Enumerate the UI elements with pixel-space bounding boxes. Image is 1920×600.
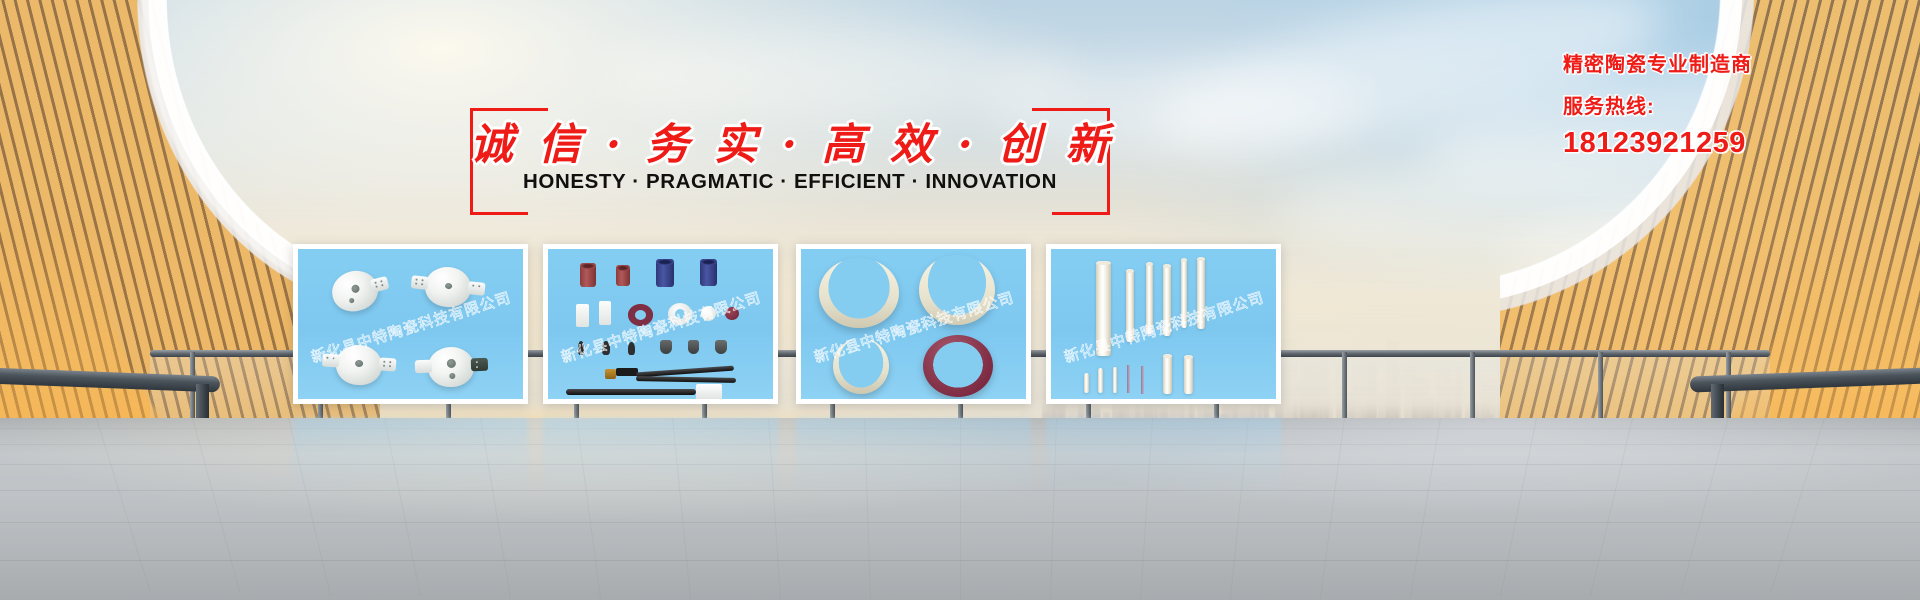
panel-4-image: 新化县中特陶瓷科技有限公司 xyxy=(1051,249,1276,399)
wire-connector-1 xyxy=(605,369,616,379)
ring-large-1 xyxy=(819,258,899,328)
panel-1-image: 新化县中特陶瓷科技有限公司 xyxy=(298,249,523,399)
plate-1 xyxy=(576,304,589,327)
panel-1-reflection xyxy=(293,418,528,496)
ring-maroon-small xyxy=(628,304,653,326)
company-slogan: 精密陶瓷专业制造商 xyxy=(1563,52,1752,78)
clip-1 xyxy=(660,340,672,354)
part-dark-1 xyxy=(578,341,584,355)
product-panel-rods[interactable]: 新化县中特陶瓷科技有限公司 xyxy=(1046,244,1281,404)
rod-mini-4 xyxy=(1163,354,1172,394)
wire-terminal xyxy=(616,368,638,376)
plate-2 xyxy=(599,301,611,325)
rod-mini-purple-2 xyxy=(1141,366,1144,394)
rod-mini-2 xyxy=(1098,368,1103,393)
rod-mini-purple-1 xyxy=(1127,365,1130,393)
socket-2 xyxy=(423,265,473,310)
rod-2 xyxy=(1126,269,1134,342)
ring-maroon-large xyxy=(923,335,993,397)
rod-thick xyxy=(1096,261,1111,356)
product-panel-rings[interactable]: 新化县中特陶瓷科技有限公司 xyxy=(796,244,1031,404)
rod-mini-3 xyxy=(1113,367,1117,393)
tube-blue-1 xyxy=(656,259,674,287)
rod-6 xyxy=(1197,257,1205,329)
part-dark-3 xyxy=(628,342,635,355)
hotline-number[interactable]: 18123921259 xyxy=(1563,126,1752,160)
part-dark-2 xyxy=(602,341,610,355)
socket-3 xyxy=(335,343,384,386)
wire-3 xyxy=(566,389,696,395)
panel-3-reflection xyxy=(796,418,1031,496)
tube-red-1 xyxy=(580,263,596,287)
socket-4 xyxy=(427,346,474,388)
cap-maroon xyxy=(725,307,739,320)
panel-2-image: 新化县中特陶瓷科技有限公司 xyxy=(548,249,773,399)
ring-large-2 xyxy=(919,255,995,325)
product-panel-components[interactable]: 新化县中特陶瓷科技有限公司 xyxy=(543,244,778,404)
tube-red-2 xyxy=(616,265,630,286)
product-panel-lamp-holders[interactable]: 新化县中特陶瓷科技有限公司 xyxy=(293,244,528,404)
rod-mini-1 xyxy=(1084,373,1089,393)
wire-plug xyxy=(696,384,722,399)
panel-2-watermark: 新化县中特陶瓷科技有限公司 xyxy=(558,287,763,368)
rod-mini-5 xyxy=(1184,355,1193,394)
wire-2 xyxy=(636,376,736,383)
tube-blue-2 xyxy=(700,259,717,286)
rod-3 xyxy=(1146,262,1153,334)
headline-english: HONESTY · PRAGMATIC · EFFICIENT · INNOVA… xyxy=(470,170,1110,194)
ring-white-small xyxy=(668,303,692,325)
cap-white xyxy=(701,306,716,321)
headline-chinese: 诚 信 · 务 实 · 高 效 · 创 新 xyxy=(470,110,1110,172)
headline-block: 诚 信 · 务 实 · 高 效 · 创 新 HONESTY · PRAGMATI… xyxy=(470,108,1110,220)
contact-block: 精密陶瓷专业制造商 服务热线: 18123921259 xyxy=(1563,52,1752,160)
rod-5 xyxy=(1181,258,1187,328)
cloud-6 xyxy=(600,30,1080,120)
panel-4-reflection xyxy=(1046,418,1281,496)
panel-2-reflection xyxy=(543,418,778,496)
panel-3-image: 新化县中特陶瓷科技有限公司 xyxy=(801,249,1026,399)
product-panel-row: 新化县中特陶瓷科技有限公司 xyxy=(0,244,1920,410)
clip-3 xyxy=(715,340,727,354)
socket-1 xyxy=(328,266,382,316)
clip-2 xyxy=(688,340,699,354)
hero-banner: 诚 信 · 务 实 · 高 效 · 创 新 HONESTY · PRAGMATI… xyxy=(0,0,1920,600)
ring-small-white xyxy=(833,338,889,394)
rod-4 xyxy=(1163,264,1171,336)
hotline-label: 服务热线: xyxy=(1563,94,1752,120)
